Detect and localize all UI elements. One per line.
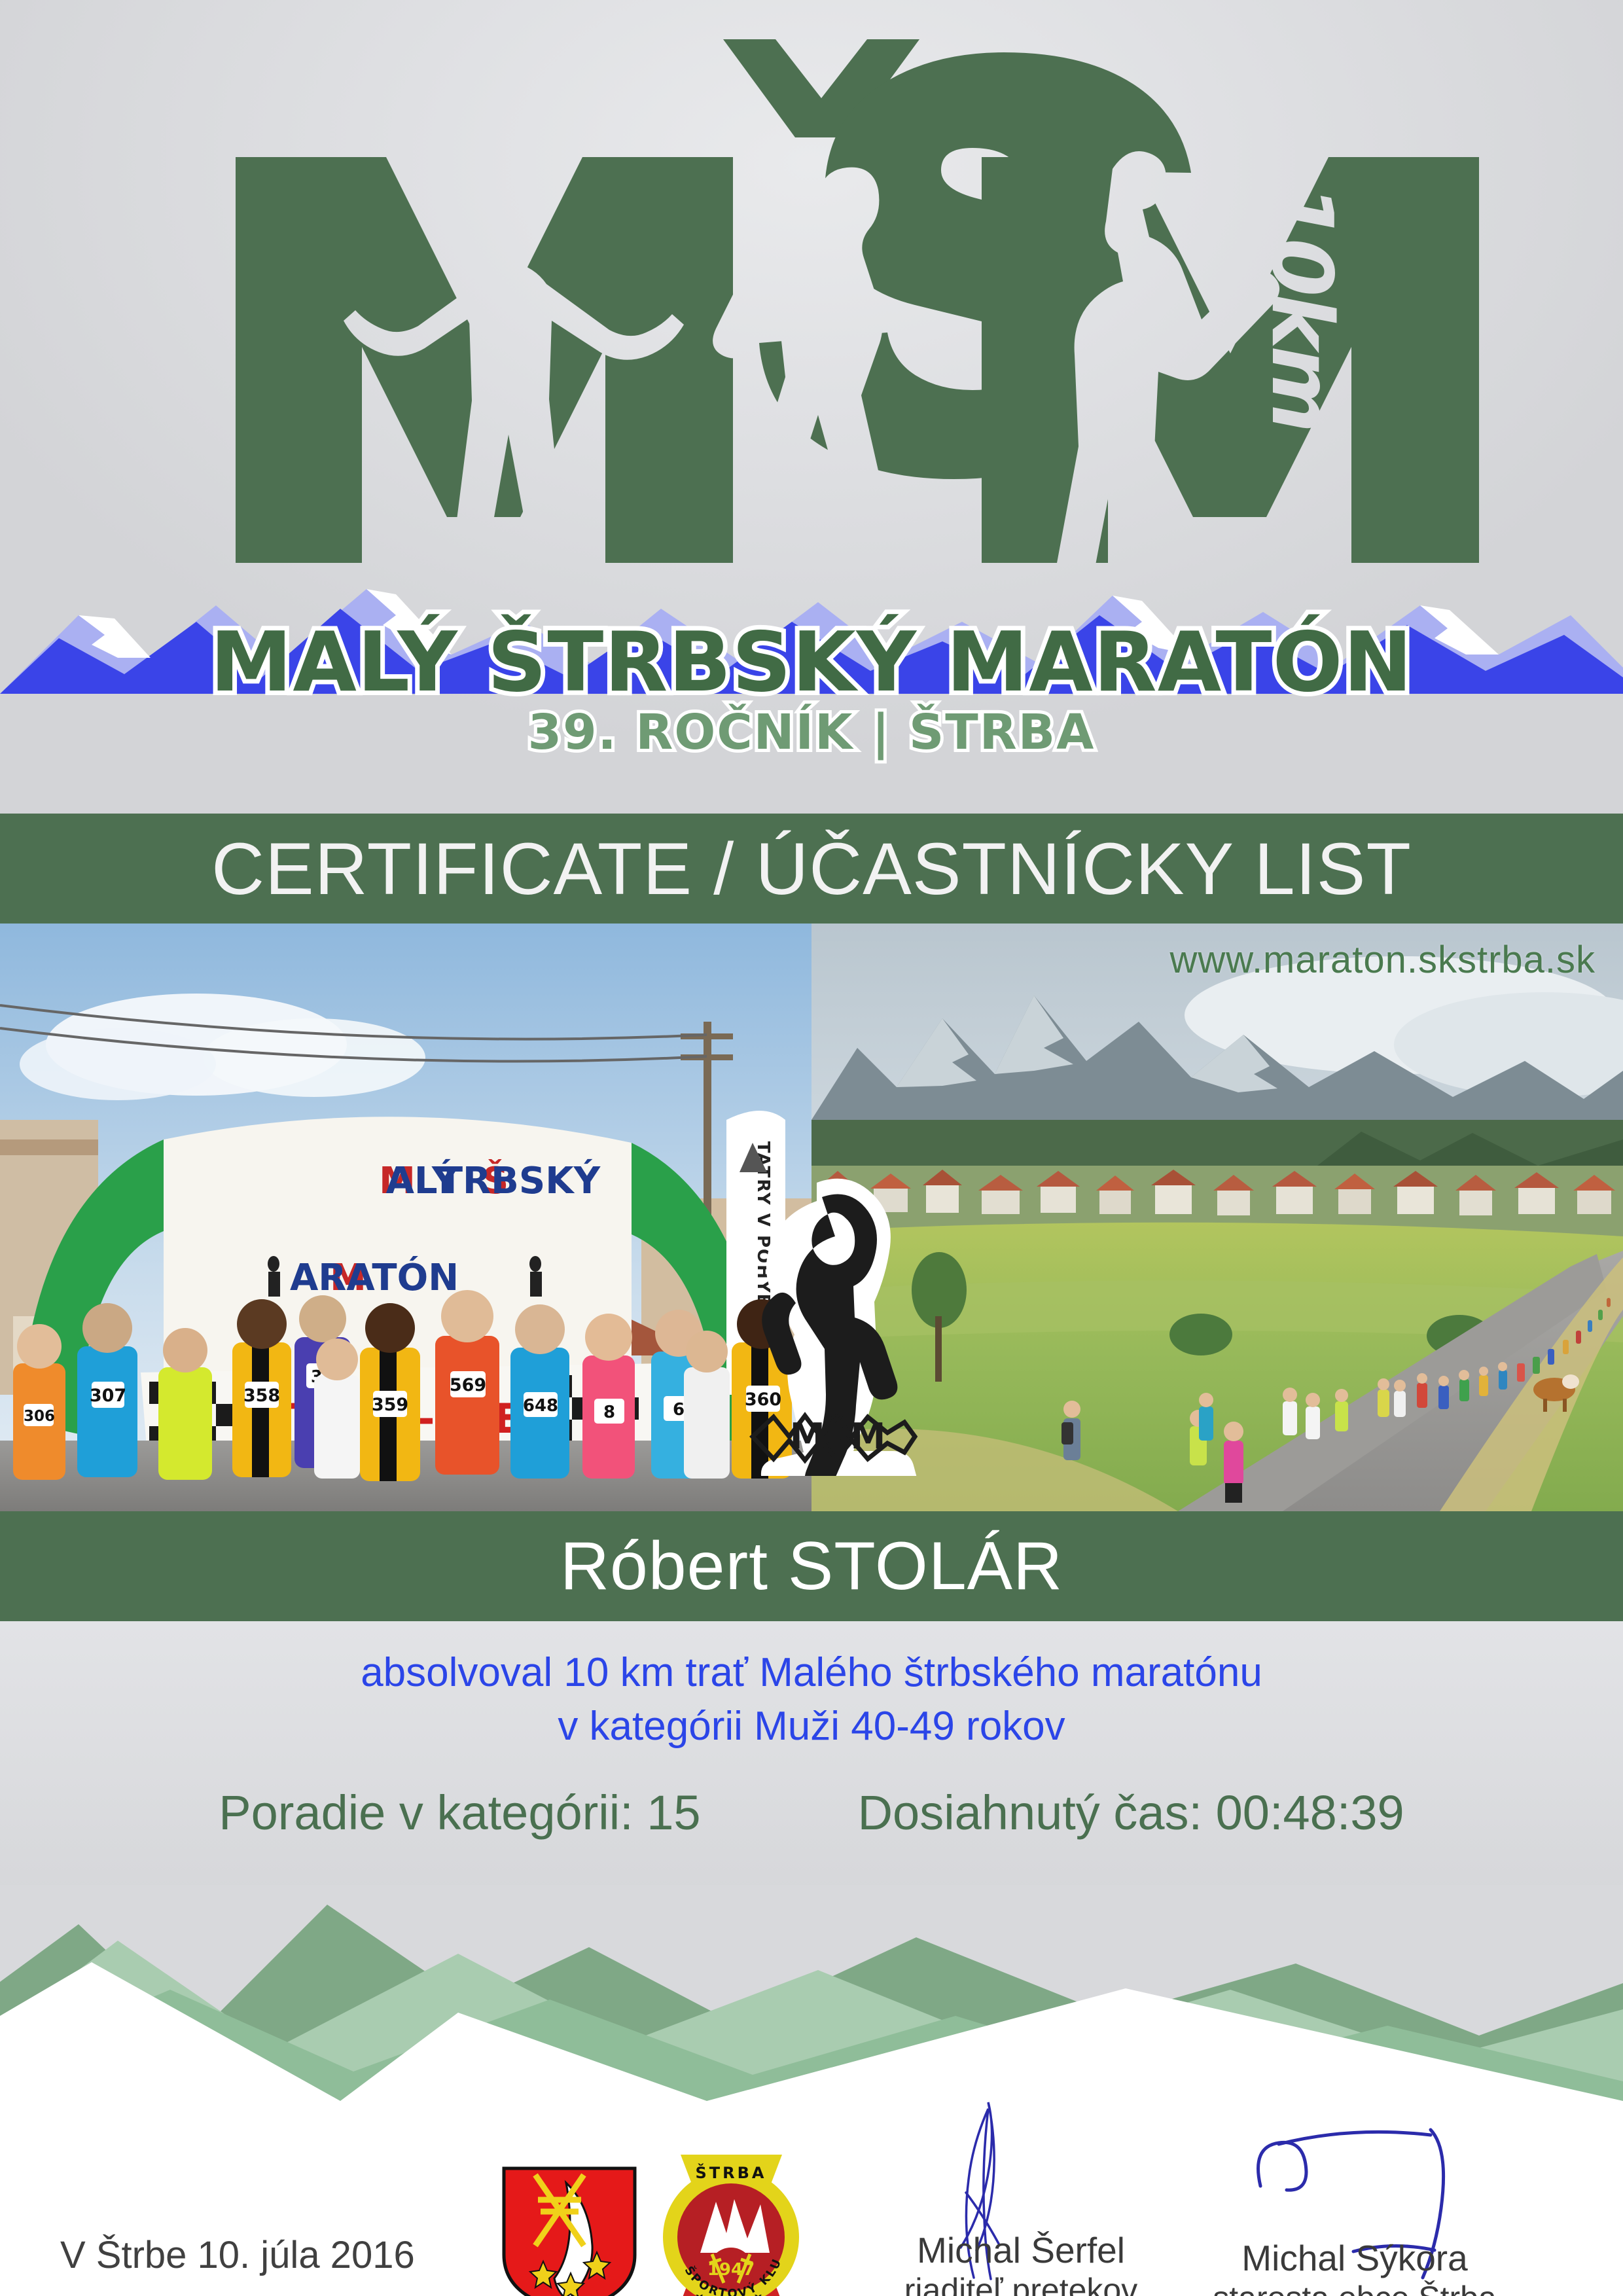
svg-text:359: 359 — [372, 1395, 408, 1415]
certificate-title-text: CERTIFICATE / ÚČASTNÍCKY LIST — [211, 827, 1412, 911]
participant-name: Róbert STOLÁR — [560, 1528, 1063, 1605]
msm-wordmark: 31km 10km — [0, 0, 1623, 589]
badge-label: MŠM — [790, 1416, 885, 1457]
certificate-page: 31km 10km 31km 10km — [0, 0, 1623, 2296]
svg-text:307: 307 — [90, 1386, 126, 1406]
svg-text:TRBSKÝ: TRBSKÝ — [438, 1160, 601, 1202]
finish-time-label: Dosiahnutý čas: — [858, 1785, 1203, 1840]
logo-header-area: 31km 10km 31km 10km — [0, 0, 1623, 814]
signature-name-2: Michal Sýkora — [1171, 2238, 1538, 2279]
signature-name-1: Michal Šerfel — [838, 2231, 1204, 2271]
issue-date: V Štrbe 10. júla 2016 — [60, 2233, 415, 2277]
achievement-line-2: v kategórii Muži 40-49 rokov — [0, 1700, 1623, 1753]
footer: V Štrbe 10. júla 2016 Obec Štrba — [0, 2081, 1623, 2296]
signature-role-1: riaditeľ pretekov — [838, 2271, 1204, 2296]
event-title: MALÝ ŠTRBSKÝ MARATÓN — [0, 614, 1623, 710]
category-rank-value: 15 — [647, 1785, 700, 1840]
svg-text:6: 6 — [673, 1400, 685, 1420]
svg-text:569: 569 — [450, 1375, 486, 1395]
photo-start-line: M ALÝ Š TRBSKÝ M ARATÓN — [0, 924, 811, 1511]
finish-time: Dosiahnutý čas: 00:48:39 — [858, 1785, 1404, 1840]
category-rank-label: Poradie v kategórii: — [219, 1785, 633, 1840]
participant-name-band: Róbert STOLÁR — [0, 1511, 1623, 1621]
msm-runner-badge: MŠM — [740, 1175, 936, 1476]
svg-text:306: 306 — [24, 1408, 55, 1425]
signature-role-2: starosta obce Štrba — [1171, 2279, 1538, 2296]
achievement-line-1: absolvoval 10 km trať Malého štrbského m… — [0, 1646, 1623, 1700]
details-section: absolvoval 10 km trať Malého štrbského m… — [0, 1621, 1623, 1896]
svg-text:358: 358 — [243, 1386, 280, 1406]
runner-crowd: 307 358 32 359 — [13, 1290, 792, 1481]
finish-time-value: 00:48:39 — [1216, 1785, 1404, 1840]
svg-text:ARATÓN: ARATÓN — [290, 1257, 459, 1299]
svg-text:648: 648 — [523, 1396, 558, 1416]
sks-strba-emblem: 1947 ŠTRBA Š K Š ŠPORTOVÝ KLUB — [661, 2155, 802, 2296]
achievement-description: absolvoval 10 km trať Malého štrbského m… — [0, 1646, 1623, 1753]
club-year: 1947 — [707, 2260, 755, 2280]
signature-block-1: Michal Šerfel riaditeľ pretekov — [838, 2231, 1204, 2296]
obec-strba-emblem — [497, 2163, 641, 2296]
svg-text:8: 8 — [603, 1403, 615, 1422]
category-rank: Poradie v kategórii: 15 — [219, 1785, 700, 1840]
club-top-text: ŠTRBA — [695, 2162, 766, 2182]
signature-block-2: Michal Sýkora starosta obce Štrba — [1171, 2238, 1538, 2296]
event-subtitle: 39. ROČNÍK | ŠTRBA — [0, 704, 1623, 761]
result-row: Poradie v kategórii: 15 Dosiahnutý čas: … — [0, 1785, 1623, 1840]
start-line-illustration: M ALÝ Š TRBSKÝ M ARATÓN — [0, 924, 811, 1511]
website-url[interactable]: www.maraton.skstrba.sk — [1169, 938, 1596, 982]
certificate-title-band: CERTIFICATE / ÚČASTNÍCKY LIST — [0, 814, 1623, 924]
